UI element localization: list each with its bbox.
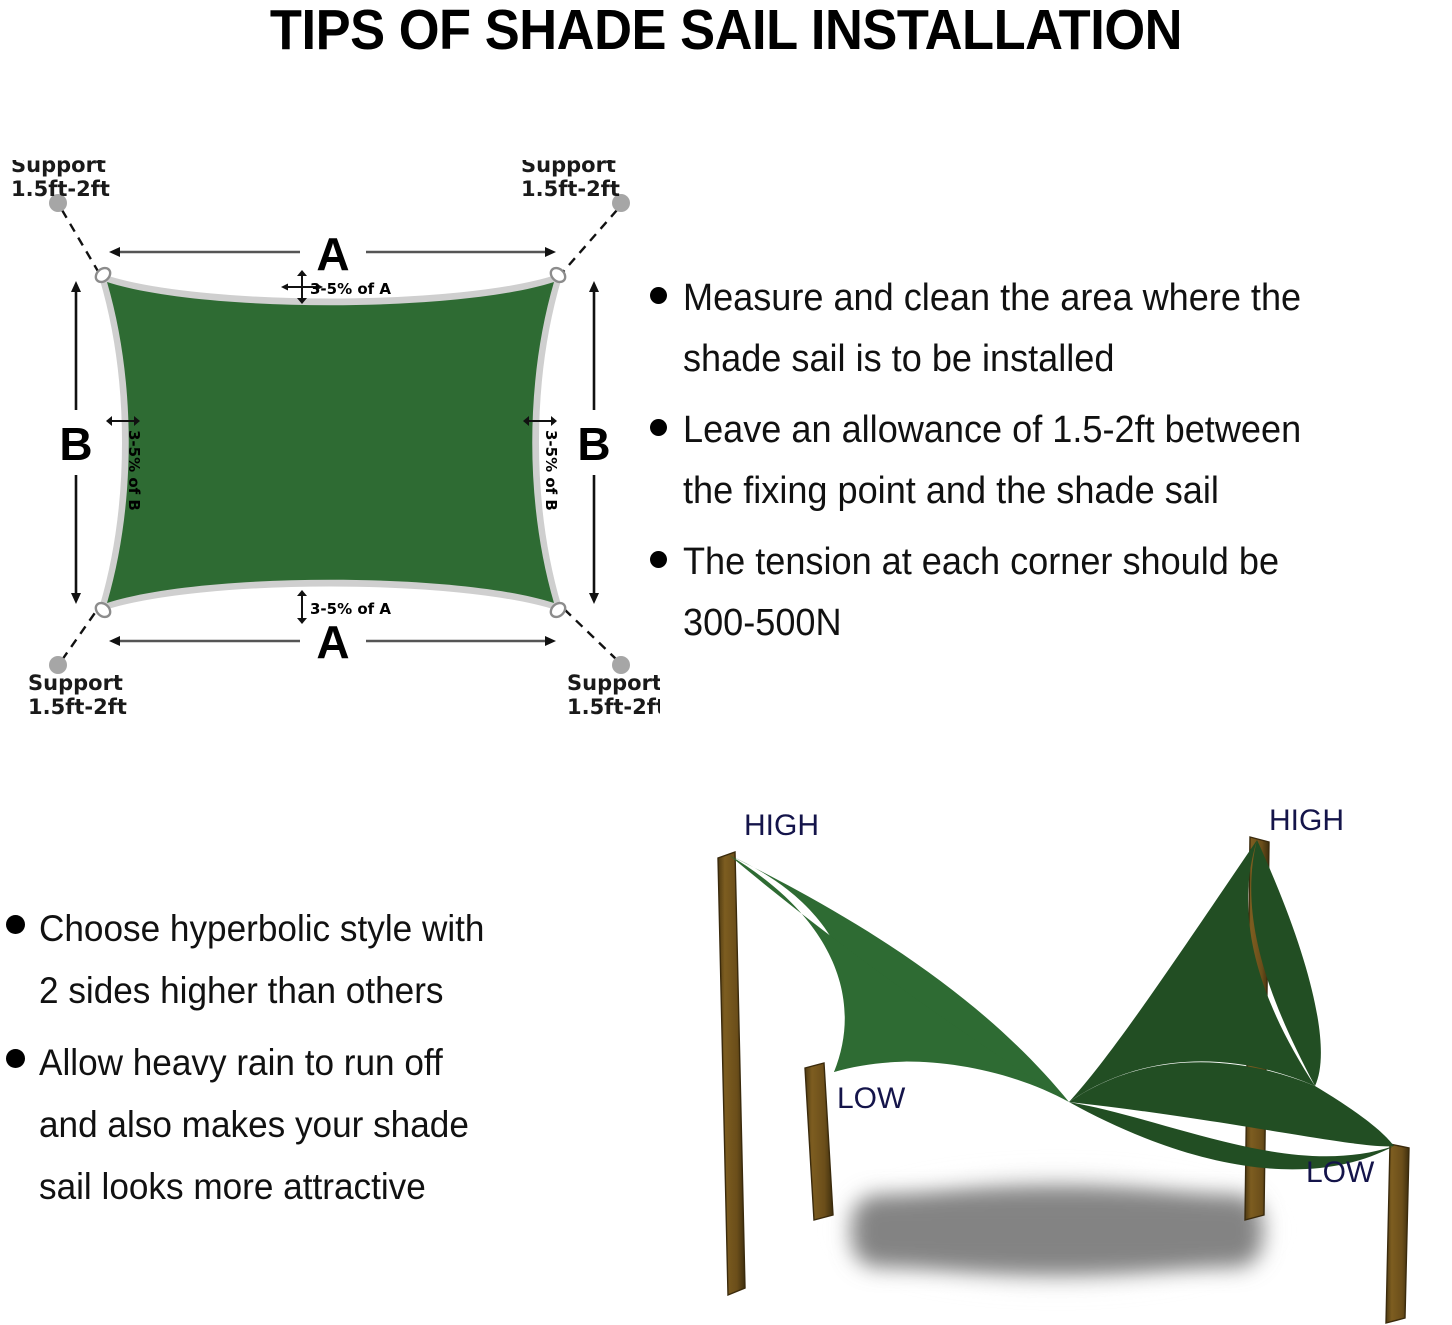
style-tip-text: Allow heavy rain to run off and also mak…: [39, 1032, 469, 1218]
bullet-icon: [6, 915, 25, 934]
support-label-bottom-right-line1: Support: [567, 671, 660, 695]
dimension-a-bottom: A: [120, 616, 545, 668]
list-item: Choose hyperbolic style with 2 sides hig…: [6, 898, 631, 1022]
style-tip-text: Choose hyperbolic style with 2 sides hig…: [39, 898, 484, 1022]
support-anchor-top-left: [49, 194, 99, 273]
page-title: TIPS OF SHADE SAIL INSTALLATION: [58, 0, 1394, 62]
dimension-b-right: B: [577, 292, 610, 593]
list-item: Allow heavy rain to run off and also mak…: [6, 1032, 631, 1218]
label-high-right: HIGH: [1269, 804, 1344, 837]
support-label-top-left-line1: Support: [11, 160, 106, 177]
support-anchor-bottom-left: [49, 607, 99, 674]
dimension-a-top: A: [120, 228, 545, 280]
dimension-b-left: B: [59, 292, 92, 593]
label-high-left: HIGH: [744, 809, 819, 842]
bullet-icon: [650, 551, 667, 568]
tip-text: Measure and clean the area where the sha…: [683, 268, 1301, 390]
bullet-icon: [650, 419, 667, 436]
dim-letter-b-right: B: [577, 418, 610, 470]
post-back-left: [718, 852, 745, 1295]
sail-fabric: [107, 282, 554, 603]
support-label-top-right-line2: 1.5ft-2ft: [521, 177, 620, 201]
support-label-top-right-line1: Support: [521, 160, 616, 177]
list-item: Leave an allowance of 1.5-2ft between th…: [650, 400, 1452, 522]
support-label-bottom-right-line2: 1.5ft-2ft: [567, 695, 660, 719]
ground-shadow-core: [852, 1195, 1262, 1267]
support-anchor-top-right: [562, 194, 630, 273]
dim-letter-a-top: A: [316, 228, 349, 280]
tip-text: Leave an allowance of 1.5-2ft between th…: [683, 400, 1301, 522]
bullet-icon: [650, 287, 667, 304]
bullet-icon: [6, 1049, 25, 1068]
tip-text: The tension at each corner should be 300…: [683, 532, 1279, 654]
support-label-bottom-left: Support 1.5ft-2ft: [28, 671, 127, 719]
support-label-top-right: Support 1.5ft-2ft: [521, 160, 620, 201]
list-item: The tension at each corner should be 300…: [650, 532, 1452, 654]
label-low-left: LOW: [837, 1082, 906, 1115]
curve-label-a-bottom-text: 3-5% of A: [310, 600, 391, 618]
curve-label-a-top-text: 3-5% of A: [310, 280, 391, 298]
support-label-bottom-right: Support 1.5ft-2ft: [567, 671, 660, 719]
rectangular-sail-diagram: A 3-5% of A A 3-5% of A B: [0, 160, 660, 730]
dim-letter-a-bottom: A: [316, 616, 349, 668]
support-label-top-left-line2: 1.5ft-2ft: [11, 177, 110, 201]
installation-tips-list: Measure and clean the area where the sha…: [650, 268, 1452, 664]
style-tips-list: Choose hyperbolic style with 2 sides hig…: [6, 898, 631, 1228]
curve-label-b-right-text: 3-5% of B: [542, 430, 560, 511]
support-label-bottom-left-line1: Support: [28, 671, 123, 695]
dim-letter-b-left: B: [59, 418, 92, 470]
support-anchor-bottom-right: [562, 607, 630, 674]
label-low-right: LOW: [1306, 1156, 1375, 1189]
post-front-right: [1386, 1144, 1409, 1323]
curve-label-b-left-text: 3-5% of B: [125, 430, 143, 511]
post-front-left: [805, 1063, 833, 1220]
list-item: Measure and clean the area where the sha…: [650, 268, 1452, 390]
support-label-top-left: Support 1.5ft-2ft: [11, 160, 110, 201]
hyperbolic-sail-diagram: HIGH HIGH LOW LOW: [672, 790, 1452, 1325]
support-label-bottom-left-line2: 1.5ft-2ft: [28, 695, 127, 719]
